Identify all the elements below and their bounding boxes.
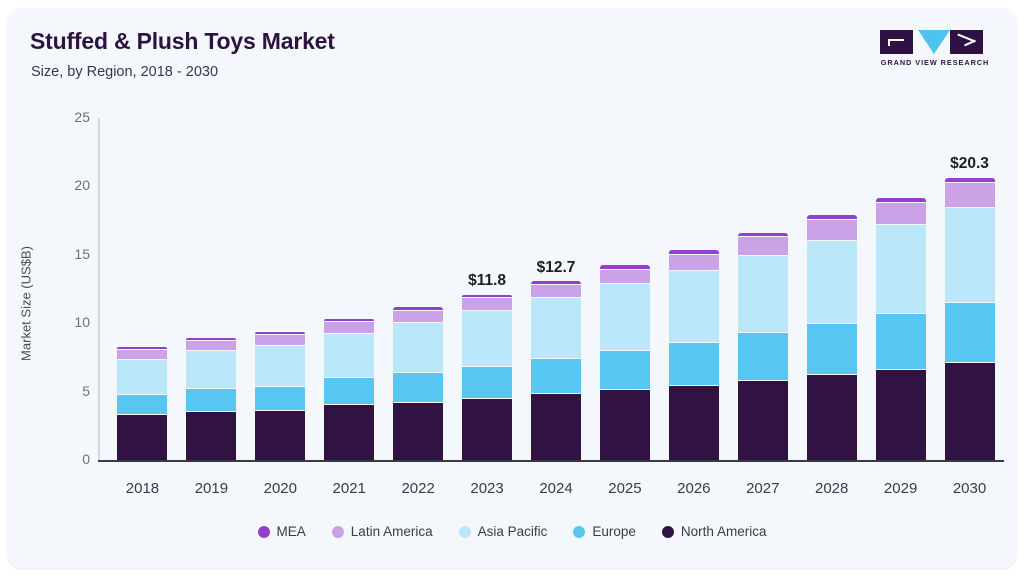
x-axis-tick: 2030 <box>953 480 986 497</box>
bar-stack[interactable] <box>393 307 443 460</box>
legend-item-label: Europe <box>592 524 636 539</box>
bar-segment-latin-america[interactable] <box>531 284 581 297</box>
y-axis-tick: 15 <box>50 246 90 262</box>
x-axis-tick: 2028 <box>815 480 848 497</box>
bar-segment-north-america[interactable] <box>186 411 236 460</box>
x-axis-line <box>98 460 1004 462</box>
x-axis-tick: 2026 <box>677 480 710 497</box>
bar-segment-europe[interactable] <box>462 366 512 398</box>
bar-segment-latin-america[interactable] <box>669 254 719 270</box>
bar-segment-europe[interactable] <box>600 350 650 389</box>
bar-stack[interactable] <box>876 198 926 460</box>
x-axis-tick: 2021 <box>333 480 366 497</box>
bar-segment-asia-pacific[interactable] <box>669 270 719 342</box>
chart-card: Stuffed & Plush Toys Market Size, by Reg… <box>8 8 1016 568</box>
bar-segment-europe[interactable] <box>531 358 581 393</box>
bar-stack[interactable] <box>462 295 512 460</box>
bar-segment-europe[interactable] <box>324 377 374 404</box>
bar-segment-europe[interactable] <box>255 386 305 410</box>
legend-item-label: Latin America <box>351 524 433 539</box>
bar-segment-asia-pacific[interactable] <box>186 350 236 388</box>
x-axis-tick: 2020 <box>264 480 297 497</box>
y-axis-tick: 5 <box>50 383 90 399</box>
bar-segment-north-america[interactable] <box>738 380 788 460</box>
chart-legend: MEALatin AmericaAsia PacificEuropeNorth … <box>8 524 1016 539</box>
bar-segment-north-america[interactable] <box>462 398 512 460</box>
y-axis-line <box>98 118 100 460</box>
bar-stack[interactable] <box>600 265 650 460</box>
y-axis-label: Market Size (US$B) <box>19 124 34 484</box>
bar-value-label: $11.8 <box>468 272 506 290</box>
x-axis-tick: 2025 <box>608 480 641 497</box>
legend-item-label: North America <box>681 524 767 539</box>
bar-segment-europe[interactable] <box>876 313 926 369</box>
bar-segment-latin-america[interactable] <box>945 182 995 206</box>
bar-value-label: $20.3 <box>950 155 989 173</box>
x-axis-tick: 2022 <box>401 480 434 497</box>
legend-item-europe[interactable]: Europe <box>573 524 636 539</box>
bar-segment-asia-pacific[interactable] <box>807 240 857 323</box>
bar-segment-asia-pacific[interactable] <box>600 283 650 350</box>
bar-segment-latin-america[interactable] <box>324 321 374 332</box>
legend-swatch-icon <box>573 526 585 538</box>
chart-plot-area: Market Size (US$B) 051015202520182019202… <box>8 8 1016 568</box>
legend-item-asia-pacific[interactable]: Asia Pacific <box>459 524 548 539</box>
bar-segment-europe[interactable] <box>117 394 167 414</box>
legend-swatch-icon <box>662 526 674 538</box>
bar-segment-north-america[interactable] <box>255 410 305 460</box>
bar-value-label: $12.7 <box>537 259 576 277</box>
bar-segment-asia-pacific[interactable] <box>945 207 995 302</box>
bar-segment-north-america[interactable] <box>324 404 374 460</box>
bar-stack[interactable] <box>738 233 788 460</box>
bar-stack[interactable] <box>117 347 167 460</box>
y-axis-tick: 25 <box>50 109 90 125</box>
bar-segment-asia-pacific[interactable] <box>117 359 167 394</box>
y-axis-tick: 20 <box>50 177 90 193</box>
x-axis-tick: 2023 <box>470 480 503 497</box>
bar-segment-europe[interactable] <box>807 323 857 375</box>
bar-segment-europe[interactable] <box>186 388 236 411</box>
bar-stack[interactable] <box>807 215 857 460</box>
bar-segment-europe[interactable] <box>738 332 788 380</box>
bar-segment-north-america[interactable] <box>531 393 581 460</box>
bar-segment-asia-pacific[interactable] <box>462 310 512 366</box>
bar-segment-north-america[interactable] <box>669 385 719 460</box>
bar-segment-latin-america[interactable] <box>255 334 305 345</box>
legend-swatch-icon <box>258 526 270 538</box>
bar-segment-asia-pacific[interactable] <box>531 297 581 358</box>
bar-stack[interactable] <box>255 332 305 460</box>
bar-segment-asia-pacific[interactable] <box>738 255 788 333</box>
legend-item-label: Asia Pacific <box>478 524 548 539</box>
bar-segment-north-america[interactable] <box>393 402 443 460</box>
bar-segment-asia-pacific[interactable] <box>255 345 305 386</box>
bar-stack[interactable] <box>324 319 374 460</box>
bar-segment-north-america[interactable] <box>945 362 995 460</box>
bar-segment-north-america[interactable] <box>600 389 650 460</box>
x-axis-tick: 2027 <box>746 480 779 497</box>
bar-segment-latin-america[interactable] <box>462 297 512 310</box>
legend-item-mea[interactable]: MEA <box>258 524 306 539</box>
x-axis-tick: 2029 <box>884 480 917 497</box>
bar-segment-latin-america[interactable] <box>600 269 650 284</box>
x-axis-tick: 2018 <box>126 480 159 497</box>
legend-item-latin-america[interactable]: Latin America <box>332 524 433 539</box>
bar-segment-asia-pacific[interactable] <box>324 333 374 378</box>
bar-segment-north-america[interactable] <box>876 369 926 460</box>
legend-item-north-america[interactable]: North America <box>662 524 767 539</box>
bar-stack[interactable] <box>531 281 581 460</box>
bar-segment-latin-america[interactable] <box>807 219 857 239</box>
bar-segment-europe[interactable] <box>945 302 995 362</box>
bar-segment-europe[interactable] <box>669 342 719 385</box>
bar-segment-north-america[interactable] <box>807 374 857 460</box>
bar-segment-asia-pacific[interactable] <box>393 322 443 372</box>
x-axis-tick: 2019 <box>195 480 228 497</box>
bar-segment-latin-america[interactable] <box>876 202 926 224</box>
bar-stack[interactable] <box>669 250 719 460</box>
x-axis-tick: 2024 <box>539 480 572 497</box>
legend-item-label: MEA <box>277 524 306 539</box>
bar-stack[interactable] <box>945 178 995 460</box>
bar-segment-north-america[interactable] <box>117 414 167 460</box>
bar-stack[interactable] <box>186 338 236 460</box>
y-axis-tick: 10 <box>50 314 90 330</box>
bar-segment-asia-pacific[interactable] <box>876 224 926 313</box>
y-axis-tick: 0 <box>50 451 90 467</box>
legend-swatch-icon <box>459 526 471 538</box>
bar-segment-latin-america[interactable] <box>186 340 236 350</box>
bar-segment-latin-america[interactable] <box>393 310 443 322</box>
bar-segment-europe[interactable] <box>393 372 443 402</box>
bar-segment-latin-america[interactable] <box>738 236 788 254</box>
bar-segment-latin-america[interactable] <box>117 349 167 358</box>
legend-swatch-icon <box>332 526 344 538</box>
